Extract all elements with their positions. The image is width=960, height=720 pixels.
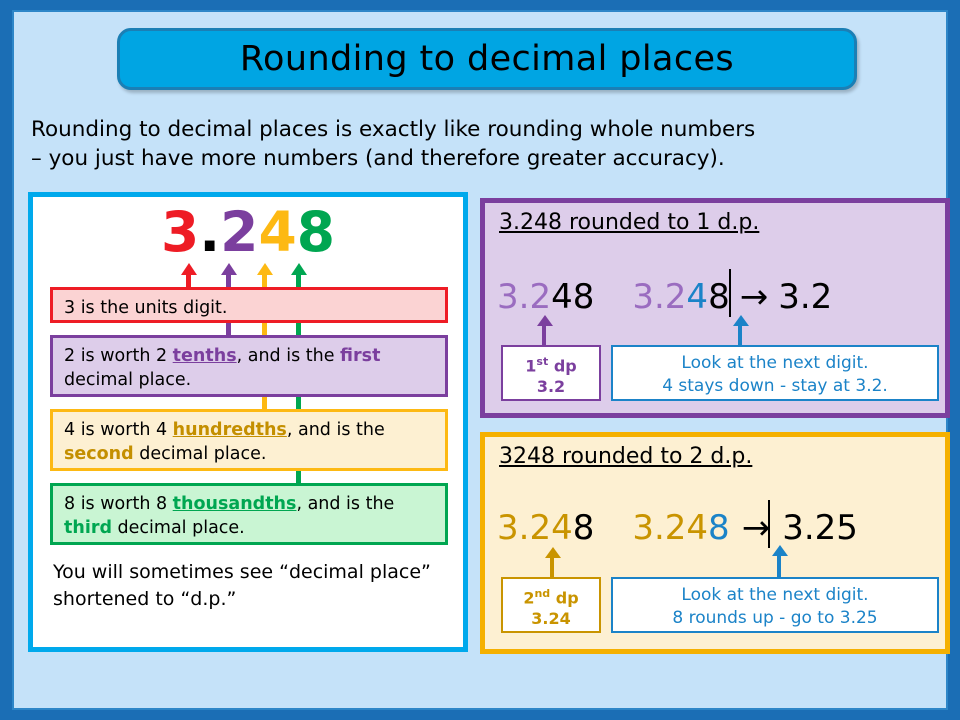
rounding-1dp-examples: 3.2483.248→3.2	[497, 278, 943, 316]
rounding-1dp-tag-label: 1st dp	[503, 351, 599, 376]
rounding-2dp-result: 3.25	[782, 508, 858, 548]
rounding-2dp-cut-line	[768, 500, 770, 548]
tenths-text-c: decimal place.	[64, 370, 191, 390]
decimal-point: .	[199, 200, 220, 264]
tenths-text-a: 2 is worth 2	[64, 346, 173, 366]
digit-hundredths: 4	[258, 200, 296, 264]
tag-ordinal-2: 2	[523, 588, 534, 607]
rounding-2dp-arrow: →	[742, 508, 771, 548]
hundredths-explanation-box: 4 is worth 4 hundredths, and is the seco…	[50, 409, 448, 471]
rounding-2dp-examples: 3.2483.248→3.25	[497, 509, 943, 547]
arrow-1dp-kept-stem	[542, 324, 546, 347]
digit-tenths: 2	[220, 200, 258, 264]
rounding-2dp-note-line-2: 8 rounds up - go to 3.25	[613, 607, 937, 630]
rounding-1dp-place-tag: 1st dp 3.2	[501, 345, 601, 401]
units-explanation-box: 3 is the units digit.	[50, 287, 448, 323]
thousandths-explanation-box: 8 is worth 8 thousandths, and is the thi…	[50, 483, 448, 545]
rounding-1dp-result: 3.2	[778, 277, 832, 317]
rounding-2dp-heading: 3248 rounded to 2 d.p.	[499, 444, 752, 469]
example2-next-digit: 4	[686, 277, 708, 317]
rounding-1dp-heading: 3.248 rounded to 1 d.p.	[499, 210, 759, 235]
tag-suffix-2: nd	[534, 587, 550, 600]
thousandths-text-a: 8 is worth 8	[64, 494, 173, 514]
thousandths-text-c: decimal place.	[112, 518, 245, 538]
example4-next-digit: 8	[708, 508, 730, 548]
example3-remaining-digits: 8	[573, 508, 595, 548]
tenths-ordinal: first	[340, 346, 380, 366]
intro-line-1: Rounding to decimal places is exactly li…	[31, 115, 941, 144]
decimal-number-display: 3.248	[33, 203, 463, 261]
title-banner: Rounding to decimal places	[117, 28, 857, 90]
rounding-2dp-note: Look at the next digit. 8 rounds up - go…	[611, 577, 939, 633]
rounding-1dp-panel: 3.248 rounded to 1 d.p. 3.2483.248→3.2 1…	[480, 198, 950, 418]
example1-remaining-digits: 48	[551, 277, 594, 317]
tag-ordinal: 1	[525, 356, 536, 375]
intro-line-2: – you just have more numbers (and theref…	[31, 144, 941, 173]
example1-kept-digits: 3.2	[497, 277, 551, 317]
hundredths-text-b: , and is the	[287, 420, 385, 440]
tag-unit: dp	[554, 356, 577, 375]
example4-kept-digits: 3.24	[632, 508, 708, 548]
tag-suffix: st	[536, 355, 548, 368]
tag-unit-2: dp	[556, 588, 579, 607]
thousandths-text-b: , and is the	[296, 494, 394, 514]
rounding-1dp-note-line-1: Look at the next digit.	[613, 352, 937, 375]
rounding-2dp-tag-label: 2nd dp	[503, 583, 599, 608]
arrow-2dp-next-stem	[777, 554, 781, 579]
hundredths-keyword: hundredths	[173, 420, 287, 440]
example3-kept-digits: 3.24	[497, 508, 573, 548]
intro-text: Rounding to decimal places is exactly li…	[31, 115, 941, 173]
slide-canvas: Rounding to decimal places Rounding to d…	[12, 10, 948, 710]
rounding-2dp-panel: 3248 rounded to 2 d.p. 3.2483.248→3.25 2…	[480, 432, 950, 654]
units-explanation-text: 3 is the units digit.	[64, 298, 227, 318]
tenths-keyword: tenths	[173, 346, 237, 366]
hundredths-text-c: decimal place.	[134, 444, 267, 464]
example2-remaining-digits: 8	[708, 277, 730, 317]
tenths-text-b: , and is the	[237, 346, 340, 366]
thousandths-ordinal: third	[64, 518, 112, 538]
arrow-1dp-next-stem	[738, 324, 742, 347]
rounding-2dp-tag-value: 3.24	[503, 608, 599, 629]
arrow-2dp-kept-stem	[550, 556, 554, 579]
shorthand-note: You will sometimes see “decimal place” s…	[53, 559, 449, 613]
digit-thousandths: 8	[297, 200, 335, 264]
place-value-panel: 3.248 3 is the units digit. 2 is worth 2…	[28, 192, 468, 652]
digit-units: 3	[161, 200, 199, 264]
rounding-1dp-arrow: →	[740, 277, 769, 317]
slide: Rounding to decimal places Rounding to d…	[0, 0, 960, 720]
hundredths-text-a: 4 is worth 4	[64, 420, 173, 440]
rounding-2dp-place-tag: 2nd dp 3.24	[501, 577, 601, 633]
rounding-2dp-note-line-1: Look at the next digit.	[613, 584, 937, 607]
example2-kept-digits: 3.2	[632, 277, 686, 317]
page-title: Rounding to decimal places	[240, 39, 734, 79]
rounding-1dp-note-line-2: 4 stays down - stay at 3.2.	[613, 375, 937, 398]
rounding-1dp-tag-value: 3.2	[503, 376, 599, 397]
rounding-1dp-cut-line	[729, 269, 731, 317]
hundredths-ordinal: second	[64, 444, 134, 464]
rounding-1dp-note: Look at the next digit. 4 stays down - s…	[611, 345, 939, 401]
thousandths-keyword: thousandths	[173, 494, 297, 514]
tenths-explanation-box: 2 is worth 2 tenths, and is the first de…	[50, 335, 448, 397]
